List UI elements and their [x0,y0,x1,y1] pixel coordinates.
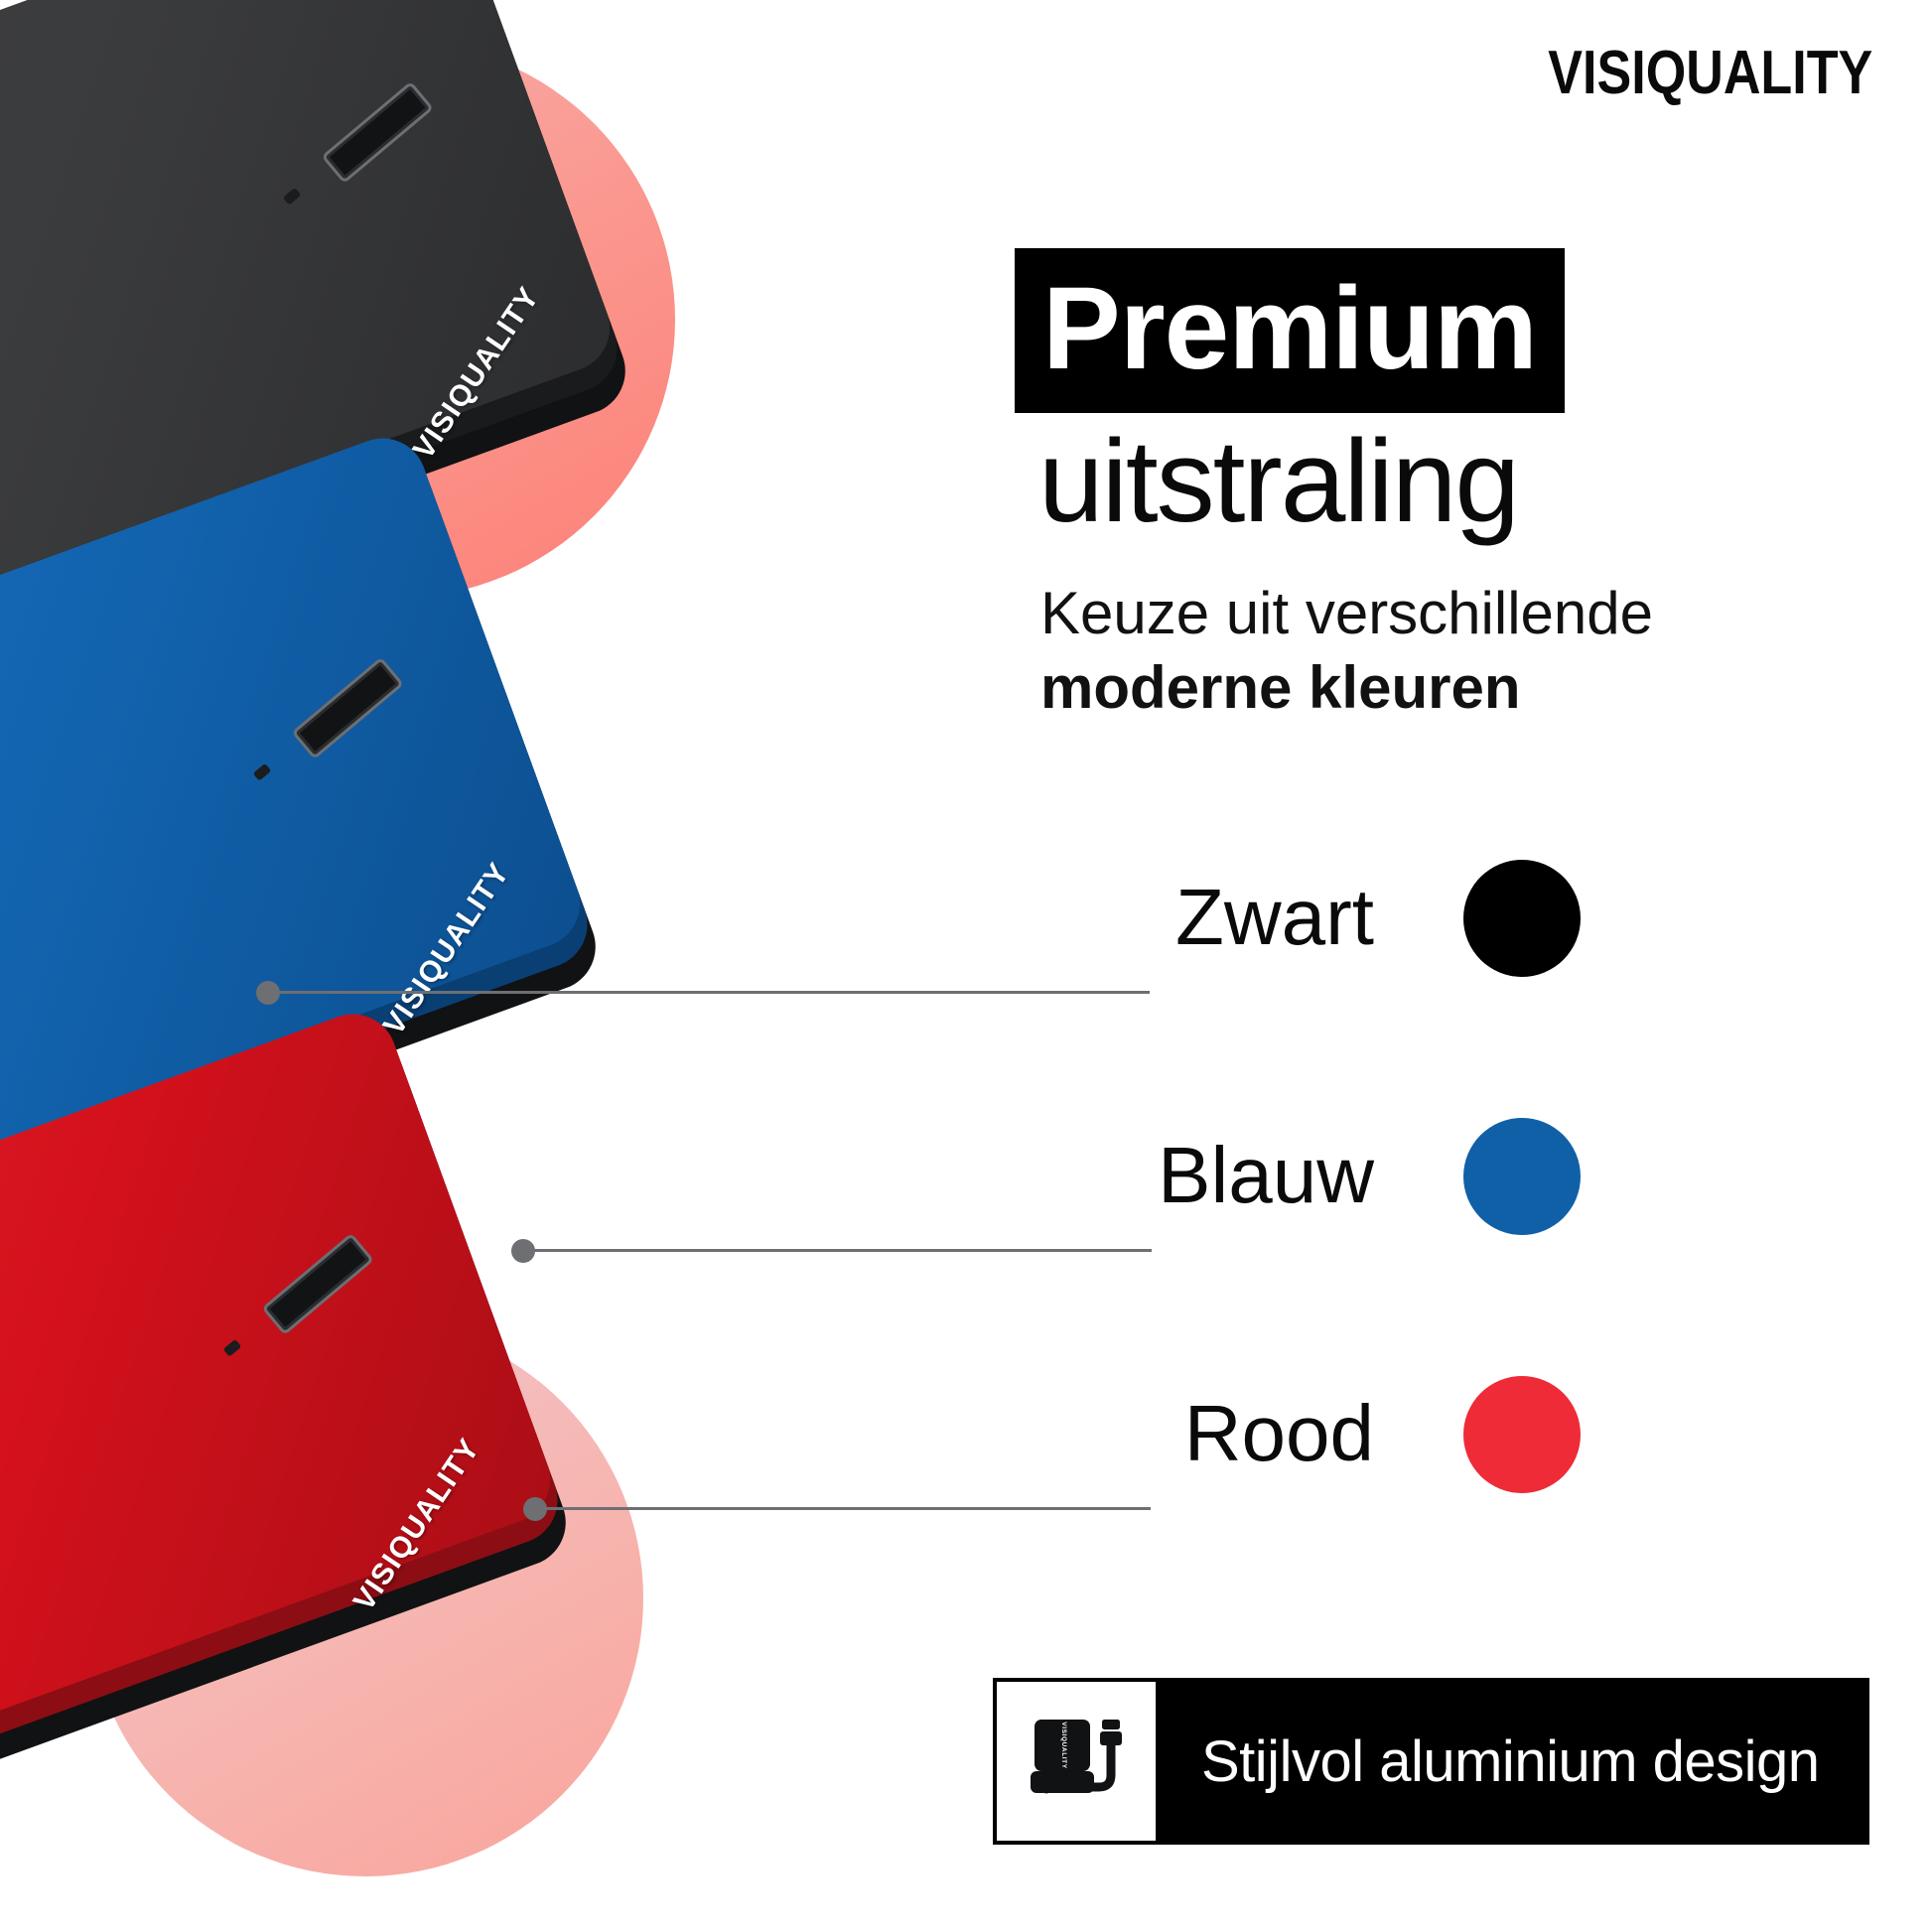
headline-description: Keuze uit verschillende moderne kleuren [1015,577,1653,725]
feature-badge-text: Stijlvol aluminium design [1160,1682,1865,1841]
legend-swatch-rood [1463,1376,1581,1493]
legend-swatch-zwart [1463,860,1581,977]
legend-swatch-blauw [1463,1118,1581,1235]
svg-text:VISIQUALITY: VISIQUALITY [1060,1722,1067,1768]
brand-logo: VISIQUALITY [1548,38,1872,108]
headline-emphasis: Premium [1015,248,1565,413]
leader-dot-rood [523,1497,547,1521]
leader-line-rood [543,1507,1151,1510]
leader-dot-blauw [511,1239,535,1263]
legend-label-zwart: Zwart [1175,872,1374,963]
headline-block: Premium uitstraling Keuze uit verschille… [1015,248,1653,725]
legend-row-blauw: Blauw [248,1112,1876,1370]
leader-line-zwart [276,991,1150,994]
description-line-1: Keuze uit verschillende [1040,580,1653,646]
external-hard-drive-usb-icon: VISIQUALITY [997,1682,1160,1841]
legend-label-rood: Rood [1184,1388,1374,1479]
leader-dot-zwart [256,981,280,1005]
legend-label-blauw: Blauw [1158,1130,1374,1221]
legend-row-zwart: Zwart [248,854,1876,1112]
headline-second-line: uitstraling [1015,419,1653,545]
color-legend: Zwart Blauw Rood [248,854,1876,1628]
legend-row-rood: Rood [248,1370,1876,1628]
description-line-2: moderne kleuren [1040,651,1653,725]
feature-badge: VISIQUALITY Stijlvol aluminium design [993,1678,1869,1845]
product-marketing-canvas: VISIQUALITY VISIQUALITY VISIQUALITY VISI… [0,0,1932,1932]
leader-line-blauw [531,1249,1152,1252]
